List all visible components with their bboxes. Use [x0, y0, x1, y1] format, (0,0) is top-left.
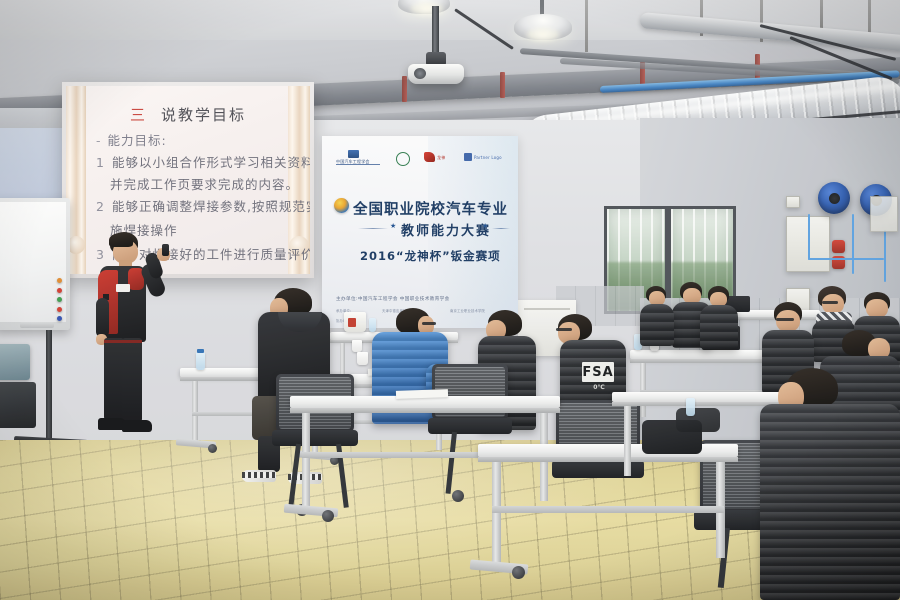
slide-line: 2能够正确调整焊接参数,按照规范实 — [96, 196, 310, 215]
hose-line — [884, 230, 886, 282]
banner-star-right: ★ — [482, 222, 488, 230]
bottle-cap — [197, 349, 204, 353]
whiteboard-magnet — [57, 316, 62, 321]
hose-line — [852, 214, 854, 274]
attendee — [640, 286, 674, 348]
wall-box — [870, 196, 898, 232]
slide-line: 并完成工作页要求完成的内容。 — [110, 174, 299, 193]
presenter-hair-front — [109, 233, 133, 247]
slide-title: 三说教学目标 — [130, 104, 246, 125]
industrial-socket — [832, 240, 845, 253]
presenter — [84, 232, 180, 444]
banner-rule-right — [492, 228, 510, 229]
attendee-face — [776, 310, 800, 332]
presenter-shoe — [122, 420, 152, 432]
attendee-torso — [700, 305, 738, 349]
circle-logo — [396, 152, 410, 166]
presenter-leg-left — [104, 338, 124, 420]
attendee-foreground — [760, 368, 900, 600]
table-leg — [624, 406, 631, 476]
table-leg — [302, 413, 310, 509]
workshop-equipment — [0, 344, 30, 380]
banner-rule-left — [358, 228, 388, 229]
banner-organizer-line: 主办单位:中国汽车工程学会 中国职业技术教育学会 — [336, 296, 450, 302]
eyeglasses — [422, 322, 436, 325]
whiteboard-magnet — [57, 278, 62, 283]
slide-subtitle: -能力目标: — [96, 130, 167, 149]
eyeglasses — [556, 328, 572, 331]
shoe-stripes — [242, 472, 276, 478]
banner-sub-title: 教师能力大赛 — [401, 220, 491, 239]
attendee-torso — [640, 304, 674, 346]
projector-lens — [414, 68, 426, 79]
whiteboard-magnet — [57, 288, 62, 293]
chair-seat — [272, 430, 358, 446]
projector-pole — [432, 6, 439, 54]
table-caster — [322, 510, 334, 522]
attendee-torso — [760, 404, 900, 600]
jacket-logo-text: FSA — [582, 365, 613, 380]
banner-main-title: 全国职业院校汽车专业 — [353, 198, 508, 219]
jacket-sub-text: 0℃ — [593, 384, 604, 391]
slide-line: 1能够以小组合作形式学习相关资料, — [96, 152, 310, 171]
beam-bracket — [500, 72, 505, 98]
hose-reel-hub — [829, 193, 840, 204]
table-caster — [208, 444, 217, 453]
attendee — [700, 286, 738, 350]
presentation-remote — [162, 244, 169, 256]
partner-logo-text: Partner Logo — [474, 155, 502, 160]
presenter-leg-right — [122, 338, 142, 422]
sponsor-logo-row: 中国汽车工程学会 龙神 Partner Logo — [336, 150, 504, 166]
presenter-badge — [116, 284, 130, 292]
water-bottle — [196, 352, 205, 370]
table-caster — [512, 566, 525, 579]
ceiling-hanger — [820, 0, 823, 30]
partner-logo — [464, 153, 472, 161]
longshen-logo-text: 龙神 — [437, 155, 445, 161]
whiteboard-magnet — [57, 307, 62, 312]
table-edge — [478, 457, 738, 462]
beam-bracket — [402, 76, 407, 102]
jacket-sub-text-wrap: 0℃ — [590, 384, 608, 391]
slide-title-text: 说教学目标 — [161, 106, 246, 124]
slide-title-number: 三 — [130, 106, 147, 124]
bucket-label — [348, 318, 356, 327]
presenter-left-arm — [96, 298, 109, 338]
photo-scene: 三说教学目标 -能力目标: 1能够以小组合作形式学习相关资料, 并完成工作页要求… — [0, 0, 900, 600]
eyeglasses — [776, 318, 794, 321]
china-sae-logo — [348, 150, 359, 158]
whiteboard-marker-tray — [20, 322, 54, 328]
whiteboard-magnet — [57, 297, 62, 302]
paper-cup — [357, 352, 368, 365]
presenter-belt-stripe — [104, 340, 142, 343]
banner-year-line: 2016“龙神杯”钣金赛项 — [360, 248, 501, 264]
eyeglasses — [822, 301, 838, 304]
water-bottle — [686, 398, 695, 416]
chair-caster — [452, 490, 464, 502]
workshop-equipment-base — [0, 382, 36, 428]
jacket-logo-patch: FSA — [582, 362, 614, 382]
table-leg — [492, 462, 501, 566]
event-banner: 中国汽车工程学会 龙神 Partner Logo 全国职业院校汽车专业 ★ 教师… — [322, 136, 518, 328]
panel-bracket — [786, 196, 800, 208]
banner-star-left: ★ — [390, 222, 396, 230]
chair-seat — [428, 418, 512, 434]
attendee-face — [822, 294, 844, 314]
laptop-bag — [676, 408, 720, 432]
longshen-logo — [424, 152, 435, 162]
lamp-glow — [526, 28, 560, 42]
paper-cup — [352, 340, 362, 352]
logo-rule — [336, 164, 380, 165]
hose-line — [808, 214, 810, 260]
table-edge — [290, 408, 560, 413]
hose-line — [808, 258, 884, 260]
ceiling-hanger — [585, 0, 588, 52]
whiteboard-surface — [0, 202, 66, 322]
competition-emblem — [334, 198, 349, 213]
whiteboard-stand-post — [46, 330, 52, 442]
table-rail — [492, 506, 724, 513]
